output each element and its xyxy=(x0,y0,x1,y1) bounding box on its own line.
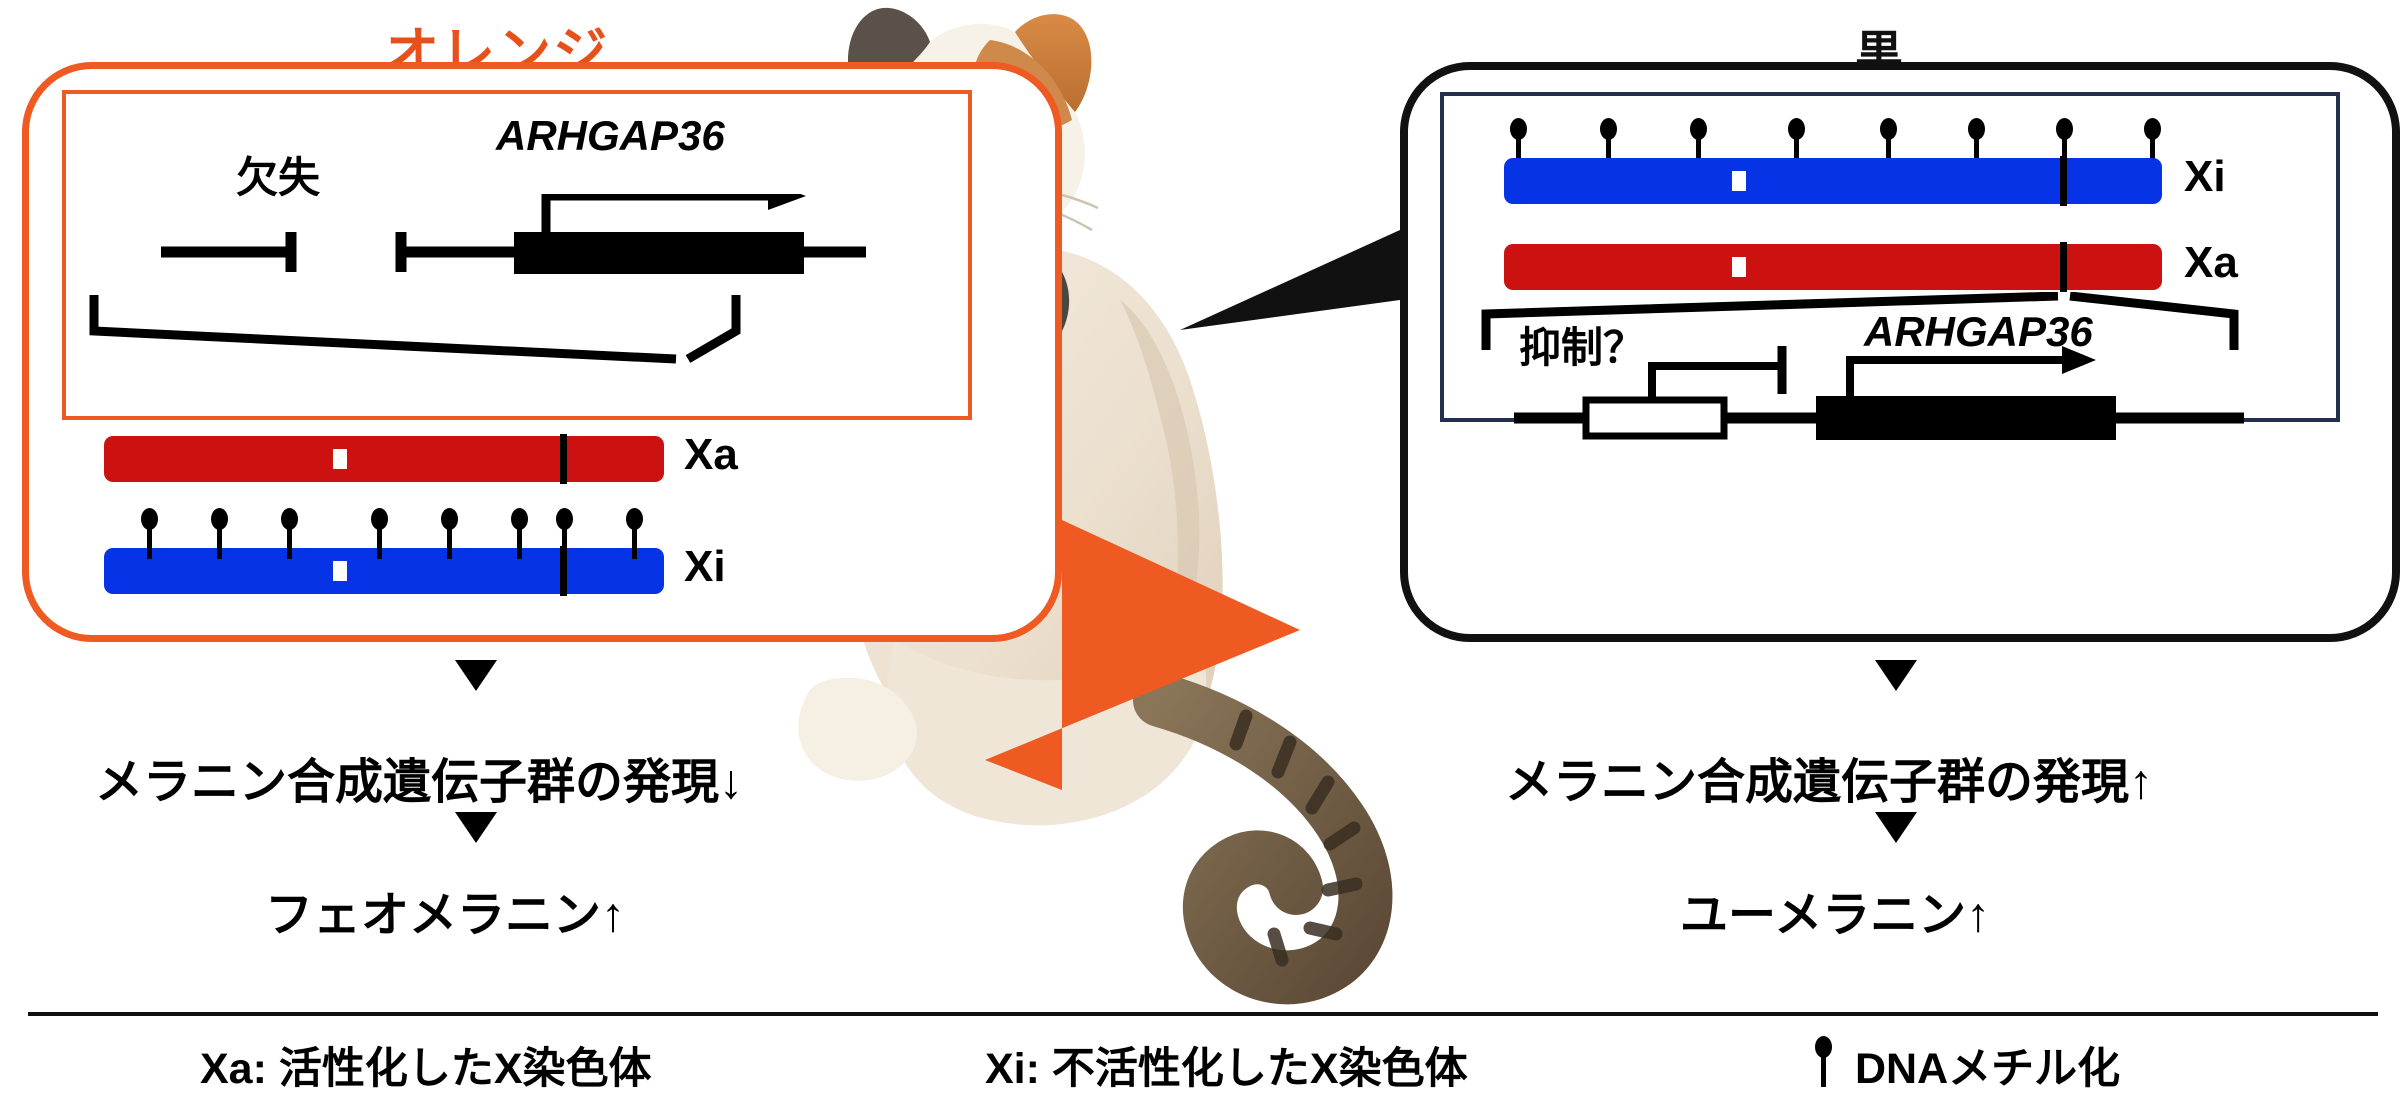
left-flow-arrowmark-1: ↓ xyxy=(719,756,743,809)
left-flow-text-2: フェオメラニン↑ xyxy=(265,875,625,945)
left-xi-cent-top xyxy=(333,548,347,561)
footer-divider xyxy=(28,1012,2378,1016)
right-xi-cent-top xyxy=(1732,158,1746,171)
right-chrom-label-xi: Xi xyxy=(2184,152,2226,202)
left-flow-arrowmark-2: ↑ xyxy=(601,889,625,942)
right-flow-arrow-2 xyxy=(1875,812,1917,843)
right-flow-label-2: ユーメラニン xyxy=(1680,889,1966,942)
left-flow-text-1: メラニン合成遺伝子群の発現↓ xyxy=(95,742,743,812)
right-chrom-label-xa: Xa xyxy=(2184,238,2238,288)
right-xi-cent-bot xyxy=(1732,191,1746,204)
right-flow-text-1: メラニン合成遺伝子群の発現↑ xyxy=(1505,742,2153,812)
right-xa-cent-bot xyxy=(1732,277,1746,290)
left-xa-locus-marker xyxy=(560,434,567,484)
left-chrom-xi-bar xyxy=(104,548,664,594)
left-flow-arrow-2 xyxy=(455,812,497,843)
left-gene-panel: ARHGAP36 欠失 xyxy=(62,90,972,420)
left-chrom-label-xa: Xa xyxy=(684,430,738,480)
right-flow-arrowmark-2: ↑ xyxy=(1966,889,1990,942)
left-gene-name: ARHGAP36 xyxy=(496,112,725,160)
right-gene-panel: Xi Xa 抑制？ ARHGAP36 xyxy=(1440,92,2340,422)
left-xa-cent-top xyxy=(333,436,347,449)
left-chrom-xa-bar xyxy=(104,436,664,482)
left-xi-cent-bot xyxy=(333,581,347,594)
legend-methylation: DNAメチル化 xyxy=(1855,1034,2120,1096)
left-zoom-bracket xyxy=(76,289,776,379)
left-xa-cent-bot xyxy=(333,469,347,482)
left-flow-label-2: フェオメラニン xyxy=(265,889,601,942)
right-xi-locus-marker xyxy=(2060,156,2067,206)
left-flow-label-1: メラニン合成遺伝子群の発現 xyxy=(95,756,719,809)
right-gene-schematic xyxy=(1464,346,2294,456)
legend-xi: Xi: 不活性化したX染色体 xyxy=(985,1034,1468,1096)
right-flow-arrowmark-1: ↑ xyxy=(2129,756,2153,809)
right-xa-cent-top xyxy=(1732,244,1746,257)
legend-xa: Xa: 活性化したX染色体 xyxy=(200,1034,652,1096)
right-flow-text-2: ユーメラニン↑ xyxy=(1680,875,1990,945)
right-xa-locus-marker xyxy=(2060,242,2067,292)
left-chrom-label-xi: Xi xyxy=(684,542,726,592)
right-flow-label-1: メラニン合成遺伝子群の発現 xyxy=(1505,756,2129,809)
left-flow-arrow-1 xyxy=(455,660,497,691)
figure-canvas: オレンジ 黒 ARHGAP36 欠失 xyxy=(0,0,2400,1111)
right-flow-arrow-1 xyxy=(1875,660,1917,691)
